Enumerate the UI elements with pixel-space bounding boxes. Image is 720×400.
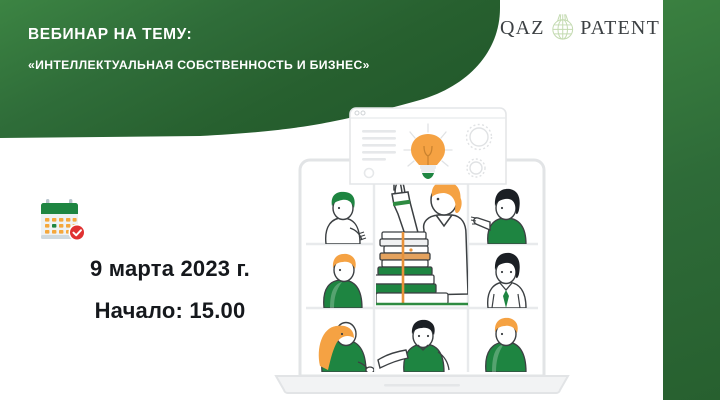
- event-time: Начало: 15.00: [30, 298, 310, 324]
- page-title: ВЕБИНАР НА ТЕМУ:: [28, 26, 458, 44]
- logo-text-right: PATENT: [580, 17, 660, 40]
- event-date: 9 марта 2023 г.: [30, 256, 310, 282]
- qazpatent-logo: QAZ PATENT: [500, 10, 660, 46]
- event-date-block: 9 марта 2023 г. Начало: 15.00: [30, 196, 310, 324]
- header-text-group: ВЕБИНАР НА ТЕМУ: «ИНТЕЛЛЕКТУАЛЬНАЯ СОБСТ…: [28, 26, 458, 72]
- calendar-check-icon: [38, 196, 90, 246]
- webinar-poster: ВЕБИНАР НА ТЕМУ: «ИНТЕЛЛЕКТУАЛЬНАЯ СОБСТ…: [0, 0, 720, 400]
- browser-window-idea-card: [348, 106, 508, 186]
- page-subtitle: «ИНТЕЛЛЕКТУАЛЬНАЯ СОБСТВЕННОСТЬ И БИЗНЕС…: [28, 58, 458, 72]
- logo-text-left: QAZ: [500, 17, 545, 40]
- qazpatent-globe-emblem-icon: [550, 13, 575, 43]
